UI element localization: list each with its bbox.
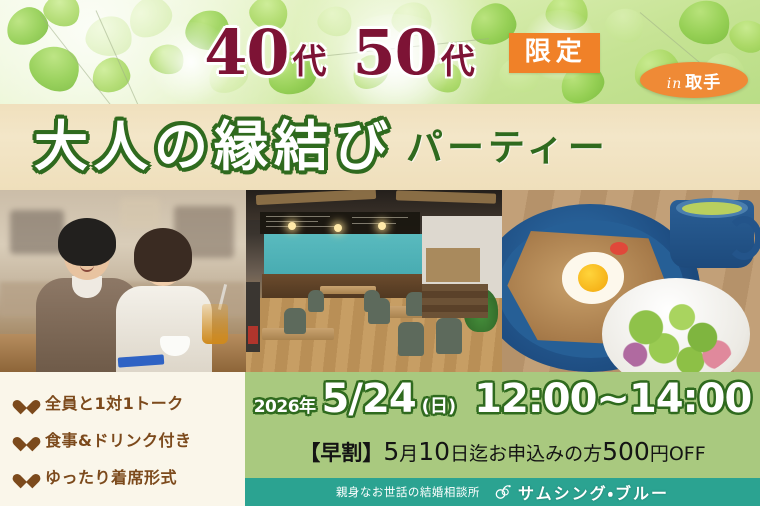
venue-badge: in取手 bbox=[640, 62, 748, 98]
event-day-of-week: (日) bbox=[422, 392, 456, 418]
early-bird-amount: 500 bbox=[602, 437, 650, 466]
feature-list: 全員と1対1トーク 食事&ドリンク付き ゆったり着席形式 bbox=[0, 372, 245, 506]
venue-badge-label: in取手 bbox=[667, 68, 722, 93]
early-bird-day: 10 bbox=[418, 437, 450, 466]
age-range-50: 50 bbox=[352, 22, 436, 84]
ring-script-logo-icon bbox=[494, 483, 512, 501]
heart-icon bbox=[18, 468, 35, 484]
bottom-section: 全員と1対1トーク 食事&ドリンク付き ゆったり着席形式 2026年 5/24 … bbox=[0, 372, 760, 506]
early-bird-label: 【早割】 bbox=[299, 441, 383, 465]
early-bird-deadline-text: 日迄お申込みの方 bbox=[450, 443, 602, 465]
photo-couple-at-cafe bbox=[0, 190, 246, 372]
limited-badge: 限定 bbox=[509, 33, 600, 73]
age-headline: 40 代 50 代 限定 bbox=[204, 22, 600, 84]
brand-logo: サムシング・ブルー bbox=[494, 480, 669, 504]
age-unit-50: 代 bbox=[441, 45, 475, 79]
feature-item: ゆったり着席形式 bbox=[18, 464, 245, 488]
early-bird-text: 【早割】5月10日迄お申込みの方500円OFF bbox=[299, 437, 705, 467]
feature-item: 全員と1対1トーク bbox=[18, 390, 245, 414]
age-unit-40: 代 bbox=[292, 45, 326, 79]
schedule-section: 2026年 5/24 (日) 12:00~14:00 【早割】5月10日迄お申込… bbox=[245, 372, 760, 506]
brand-footer: 親身なお世話の結婚相談所 サムシング・ブルー bbox=[245, 478, 760, 506]
photo-galette-plate bbox=[502, 190, 760, 372]
limited-badge-label: 限定 bbox=[522, 39, 587, 65]
event-date: 5/24 bbox=[322, 376, 416, 422]
feature-label: ゆったり着席形式 bbox=[45, 464, 177, 488]
brand-name: サムシング・ブルー bbox=[518, 480, 669, 504]
early-bird-month-unit: 月 bbox=[399, 443, 418, 465]
early-bird-month: 5 bbox=[383, 437, 399, 466]
event-title-main: 大人の縁結び bbox=[34, 120, 394, 174]
event-year: 2026年 bbox=[254, 392, 316, 417]
brand-tagline: 親身なお世話の結婚相談所 bbox=[336, 484, 480, 500]
early-bird-notice: 【早割】5月10日迄お申込みの方500円OFF bbox=[245, 430, 760, 474]
photo-cafe-interior bbox=[246, 190, 502, 372]
event-flyer: 40 代 50 代 限定 大人の縁結び パーティー in取手 bbox=[0, 0, 760, 506]
age-range-40: 40 bbox=[204, 22, 288, 84]
event-datetime: 2026年 5/24 (日) 12:00~14:00 bbox=[245, 376, 760, 430]
feature-item: 食事&ドリンク付き bbox=[18, 427, 245, 451]
venue-name: 取手 bbox=[685, 73, 721, 93]
feature-label: 食事&ドリンク付き bbox=[45, 427, 191, 451]
hero-header: 40 代 50 代 限定 bbox=[0, 0, 760, 106]
event-time: 12:00~14:00 bbox=[474, 376, 751, 422]
event-title-sub: パーティー bbox=[406, 129, 609, 166]
photo-strip bbox=[0, 190, 760, 372]
title-band: 大人の縁結び パーティー bbox=[0, 104, 760, 190]
feature-label: 全員と1対1トーク bbox=[45, 390, 184, 414]
early-bird-amount-unit: 円OFF bbox=[650, 443, 706, 465]
venue-prefix: in bbox=[667, 76, 683, 92]
heart-icon bbox=[18, 431, 35, 447]
heart-icon bbox=[18, 394, 35, 410]
